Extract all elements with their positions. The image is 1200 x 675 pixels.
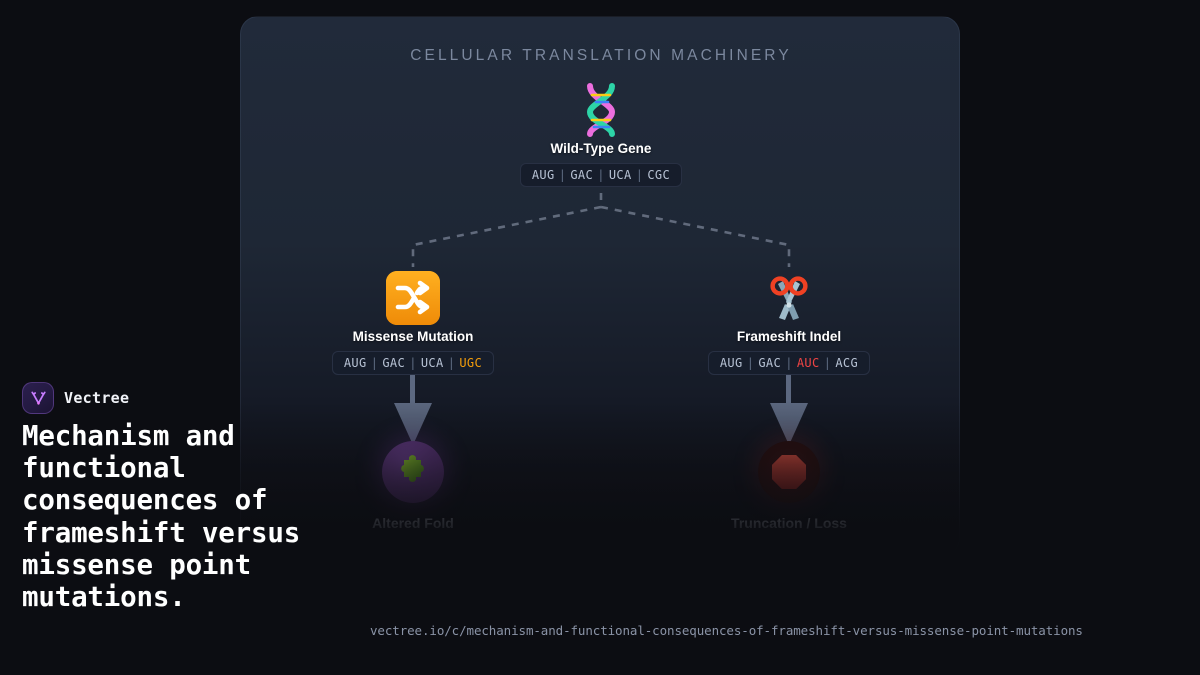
codon-separator: |: [781, 356, 797, 370]
codon: UCA: [609, 168, 632, 182]
node-wild-type-gene[interactable]: Wild-Type Gene AUG|GAC|UCA|CGC: [451, 79, 751, 187]
codon: CGC: [647, 168, 670, 182]
codon: UCA: [421, 356, 444, 370]
node-truncation-loss[interactable]: Truncation / Loss: [639, 441, 939, 531]
puzzle-piece-icon: [382, 441, 444, 503]
codon-separator: |: [405, 356, 421, 370]
stop-octagon-icon: [758, 441, 820, 503]
codon: AUG: [344, 356, 367, 370]
codon: AUG: [720, 356, 743, 370]
codon: GAC: [382, 356, 405, 370]
node-missense-mutation[interactable]: Missense Mutation AUG|GAC|UCA|UGC: [263, 267, 563, 375]
dna-icon: [451, 79, 751, 141]
brand-name: Vectree: [64, 389, 129, 407]
codon: ACG: [835, 356, 858, 370]
codon-chip-missense: AUG|GAC|UCA|UGC: [332, 351, 494, 375]
codon-separator: |: [632, 168, 648, 182]
node-frameshift-indel[interactable]: Frameshift Indel AUG|GAC|AUC|ACG: [639, 267, 939, 375]
codon-separator: |: [820, 356, 836, 370]
codon-separator: |: [444, 356, 460, 370]
codon-altered: UGC: [459, 356, 482, 370]
node-label: Wild-Type Gene: [451, 141, 751, 156]
poster-canvas: CELLULAR TRANSLATION MACHINERY: [0, 0, 1200, 675]
codon-separator: |: [367, 356, 383, 370]
scissors-icon: [639, 267, 939, 329]
shuffle-icon: [263, 267, 563, 329]
codon-separator: |: [555, 168, 571, 182]
codon-chip-wild-type: AUG|GAC|UCA|CGC: [520, 163, 682, 187]
codon-separator: |: [743, 356, 759, 370]
codon-chip-frameshift: AUG|GAC|AUC|ACG: [708, 351, 870, 375]
codon: GAC: [758, 356, 781, 370]
vectree-logo-icon: [22, 382, 54, 414]
card-title: CELLULAR TRANSLATION MACHINERY: [241, 47, 960, 65]
codon: GAC: [570, 168, 593, 182]
brand: Vectree: [22, 382, 129, 414]
codon-separator: |: [593, 168, 609, 182]
source-url: vectree.io/c/mechanism-and-functional-co…: [370, 623, 1083, 638]
codon: AUG: [532, 168, 555, 182]
node-label: Missense Mutation: [263, 329, 563, 344]
node-label: Truncation / Loss: [639, 515, 939, 531]
node-label: Frameshift Indel: [639, 329, 939, 344]
codon-bad: AUC: [797, 356, 820, 370]
headline: Mechanism and functional consequences of…: [22, 420, 377, 613]
